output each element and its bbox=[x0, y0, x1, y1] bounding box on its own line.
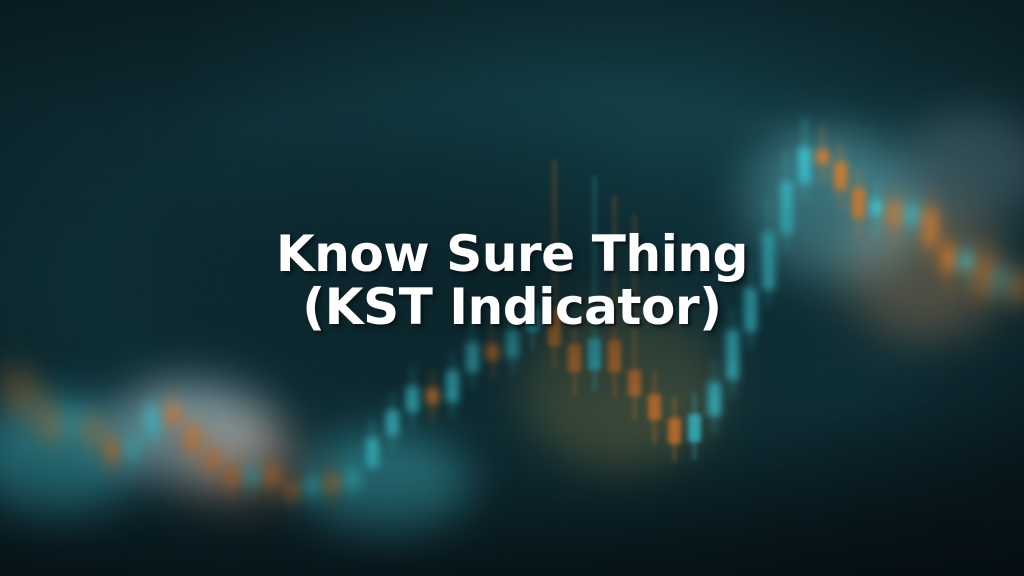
candle-body bbox=[816, 150, 829, 164]
candle-body bbox=[486, 344, 499, 360]
candle-body bbox=[834, 162, 847, 190]
candle-body bbox=[126, 442, 139, 458]
candle-body bbox=[548, 308, 561, 346]
candle-body bbox=[744, 288, 757, 332]
candle-body bbox=[628, 370, 641, 396]
candle-body bbox=[426, 388, 439, 404]
candle-body bbox=[870, 200, 883, 216]
candle-body bbox=[26, 392, 39, 420]
candle-body bbox=[346, 470, 359, 490]
candle-body bbox=[978, 254, 991, 292]
candle-body bbox=[608, 340, 621, 372]
candle-body bbox=[386, 410, 399, 436]
candle-body bbox=[166, 406, 179, 424]
candle-body bbox=[506, 330, 519, 358]
candle-body bbox=[206, 450, 219, 470]
candle-body bbox=[266, 468, 279, 486]
candle-body bbox=[186, 426, 199, 452]
candle-body bbox=[942, 244, 955, 272]
candle-body bbox=[326, 476, 339, 492]
candle-body bbox=[798, 148, 811, 184]
candle-body bbox=[726, 330, 739, 380]
candle-body bbox=[588, 338, 601, 370]
candle-body bbox=[780, 182, 793, 234]
candle-body bbox=[668, 418, 681, 444]
candle-body bbox=[106, 440, 119, 462]
candle-body bbox=[648, 394, 661, 420]
candle-body bbox=[852, 188, 865, 218]
candle-body bbox=[708, 382, 721, 416]
candle-body bbox=[996, 272, 1009, 290]
candle-body bbox=[246, 470, 259, 484]
candle-body bbox=[146, 408, 159, 438]
candle-body bbox=[924, 208, 937, 246]
candle-body bbox=[366, 438, 379, 468]
candle-body bbox=[1014, 274, 1024, 300]
candle-body bbox=[762, 232, 775, 290]
candle-body bbox=[8, 372, 21, 398]
candle-body bbox=[226, 468, 239, 486]
candle-body bbox=[286, 484, 299, 498]
candle-body bbox=[306, 478, 319, 496]
background-chart-image bbox=[0, 0, 1024, 576]
candle-body bbox=[688, 414, 701, 442]
candle-body bbox=[406, 386, 419, 412]
candle-body bbox=[568, 344, 581, 372]
candle-body bbox=[66, 418, 79, 432]
candle-body bbox=[86, 420, 99, 444]
candle-body bbox=[446, 370, 459, 402]
candlestick-series bbox=[0, 0, 1024, 576]
hero-banner: Know Sure Thing (KST Indicator) bbox=[0, 0, 1024, 576]
candle-body bbox=[46, 416, 59, 438]
candle-body bbox=[526, 306, 539, 332]
candle-body bbox=[960, 252, 973, 270]
candle-body bbox=[906, 206, 919, 224]
candle-body bbox=[888, 202, 901, 226]
candle-body bbox=[466, 342, 479, 372]
